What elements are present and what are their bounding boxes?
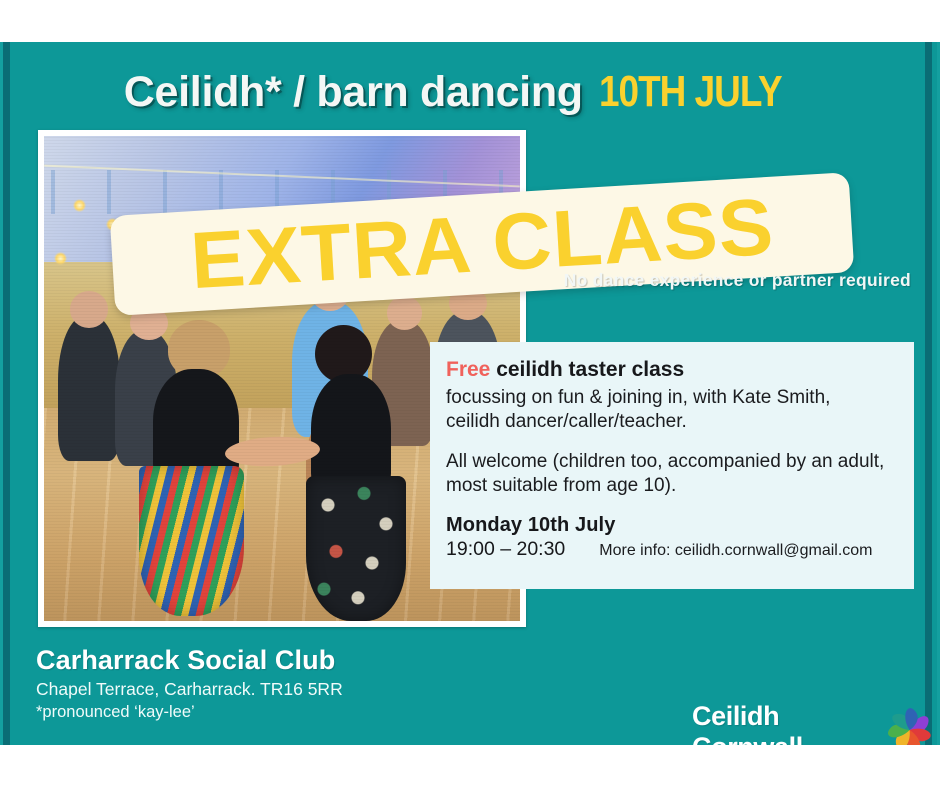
pinwheel-logo-icon <box>879 699 940 745</box>
date-badge: 10TH JULY <box>599 70 782 114</box>
header: Ceilidh* / barn dancing 10TH JULY <box>0 52 940 114</box>
info-paragraph-1: focussing on fun & joining in, with Kate… <box>446 386 898 410</box>
poster-canvas: Ceilidh* / barn dancing 10TH JULY <box>0 42 940 745</box>
poster-edge-right-stripe <box>925 42 932 745</box>
free-label: Free <box>446 358 490 381</box>
contact-email[interactable]: More info: ceilidh.cornwall@gmail.com <box>599 542 872 560</box>
info-headline-rest: ceilidh taster class <box>490 358 684 381</box>
info-paragraph-3: All welcome (children too, accompanied b… <box>446 450 898 474</box>
venue-block: Carharrack Social Club Chapel Terrace, C… <box>36 646 343 724</box>
poster-edge-left-stripe <box>3 42 10 745</box>
pronunciation-note: *pronounced ‘kay-lee’ <box>36 702 343 724</box>
event-time: 19:00 – 20:30 <box>446 538 565 561</box>
event-date: Monday 10th July <box>446 514 898 537</box>
brand-logo-text: Ceilidh Cornwall <box>692 701 895 745</box>
info-paragraph-2: ceilidh dancer/caller/teacher. <box>446 410 898 434</box>
brand-logo: Ceilidh Cornwall <box>692 701 940 745</box>
info-bottom-row: 19:00 – 20:30 More info: ceilidh.cornwal… <box>446 538 898 561</box>
page-title: Ceilidh* / barn dancing <box>124 71 583 114</box>
info-box: Free ceilidh taster class focussing on f… <box>430 342 914 589</box>
venue-name: Carharrack Social Club <box>36 646 343 676</box>
info-headline: Free ceilidh taster class <box>446 358 898 382</box>
venue-address: Chapel Terrace, Carharrack. TR16 5RR <box>36 678 343 701</box>
tagline: No dance experience or partner required <box>564 270 911 291</box>
info-spacer <box>446 498 898 514</box>
info-paragraph-4: most suitable from age 10). <box>446 474 898 498</box>
info-spacer <box>446 434 898 450</box>
